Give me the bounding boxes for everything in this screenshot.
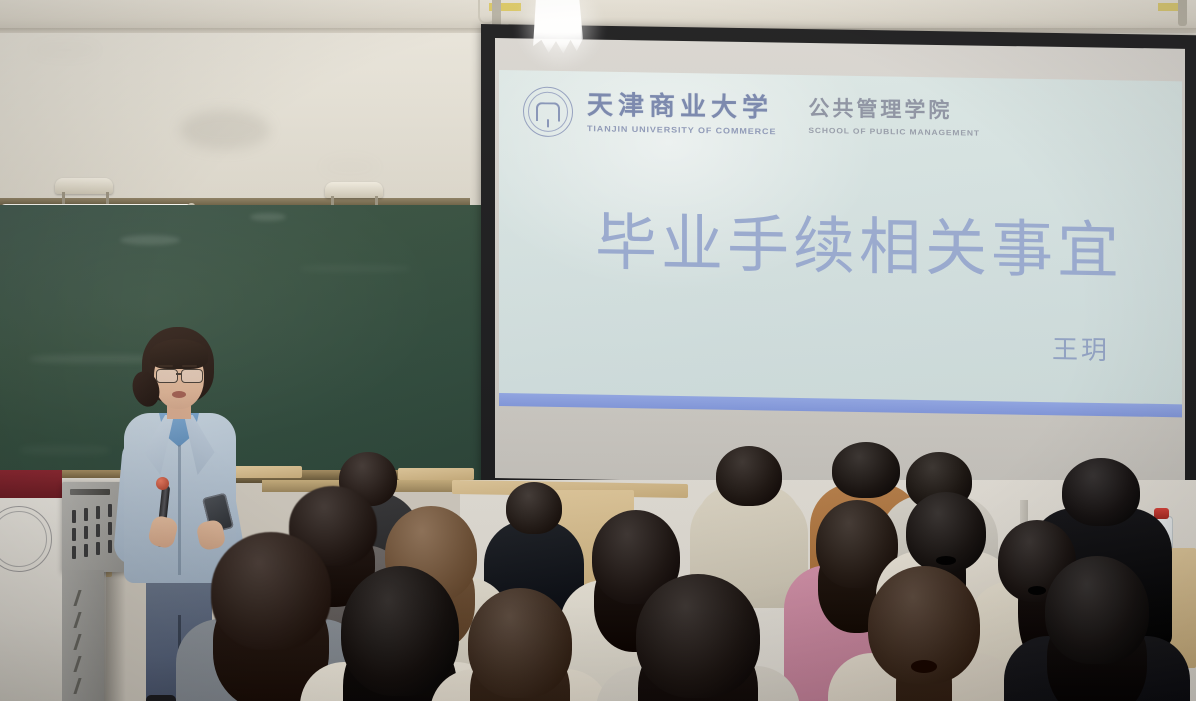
equipment-rack-label bbox=[70, 489, 110, 495]
screen-mount bbox=[1178, 0, 1187, 26]
projected-slide: 天津商业大学 TIANJIN UNIVERSITY OF COMMERCE 公共… bbox=[499, 70, 1182, 411]
department-block: 公共管理学院 SCHOOL OF PUBLIC MANAGEMENT bbox=[808, 98, 980, 138]
student-back-2-head bbox=[506, 482, 562, 534]
department-name-cn: 公共管理学院 bbox=[808, 98, 980, 122]
slide-title: 毕业手续相关事宜 bbox=[559, 211, 1159, 283]
student-mid-6-hair-tie bbox=[1028, 586, 1047, 595]
student-front-3-head bbox=[468, 588, 572, 698]
wall-smudge bbox=[30, 40, 100, 60]
institution-block: 天津商业大学 TIANJIN UNIVERSITY OF COMMERCE bbox=[587, 92, 776, 136]
glasses-lens-icon bbox=[181, 369, 203, 383]
glasses-bridge-icon bbox=[176, 373, 182, 375]
institution-name-cn: 天津商业大学 bbox=[587, 92, 776, 121]
student-back-6-head bbox=[1062, 458, 1140, 526]
student-front-2-head bbox=[341, 566, 459, 696]
slide-author: 王玥 bbox=[1052, 329, 1110, 367]
wall-smudge bbox=[320, 155, 380, 179]
lecture-hall-photo: 天津商业大学 TIANJIN UNIVERSITY OF COMMERCE 公共… bbox=[0, 0, 1196, 701]
presenter-jacket-zip bbox=[178, 445, 181, 575]
slide-header: 天津商业大学 TIANJIN UNIVERSITY OF COMMERCE 公共… bbox=[523, 86, 980, 144]
student-back-4-head bbox=[832, 442, 900, 498]
microphone-windscreen-icon bbox=[156, 477, 169, 490]
desk-surface bbox=[398, 468, 474, 480]
department-name-en: SCHOOL OF PUBLIC MANAGEMENT bbox=[808, 125, 980, 137]
glasses-lens-icon bbox=[156, 369, 178, 383]
equipment-rack-column bbox=[62, 570, 104, 701]
student-back-3-head bbox=[716, 446, 782, 506]
student-mid-5-hair-tie bbox=[936, 556, 955, 565]
student-front-6-head bbox=[1045, 556, 1149, 664]
student-front-1-head bbox=[211, 532, 331, 650]
university-seal-icon bbox=[523, 86, 573, 137]
presenter-shoe bbox=[146, 695, 176, 701]
lectern-banner bbox=[0, 470, 62, 498]
student-front-4-head bbox=[636, 574, 760, 698]
wall-smudge bbox=[180, 110, 270, 150]
institution-name-en: TIANJIN UNIVERSITY OF COMMERCE bbox=[587, 123, 776, 135]
presenter-mouth bbox=[172, 391, 186, 398]
